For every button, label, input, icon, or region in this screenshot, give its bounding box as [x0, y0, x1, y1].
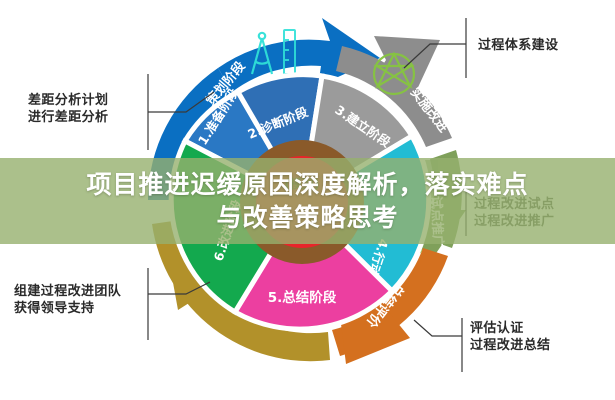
callout-process-system: 过程体系建设: [478, 37, 558, 54]
page-title: 项目推进迟缓原因深度解析，落实难点 与改善策略思考: [0, 168, 615, 235]
callout-team-building: 组建过程改进团队 获得领导支持: [14, 283, 121, 317]
title-overlay-band: 项目推进迟缓原因深度解析，落实难点 与改善策略思考: [0, 158, 615, 244]
callout-gap-analysis: 差距分析计划 进行差距分析: [28, 92, 108, 126]
callout-assessment: 评估认证 过程改进总结: [470, 320, 550, 354]
inner-segment-phase-5-label: 5.总结阶段: [268, 289, 337, 306]
screenshot-root: 策划阶段 实施改进 试点推广: [0, 0, 615, 400]
